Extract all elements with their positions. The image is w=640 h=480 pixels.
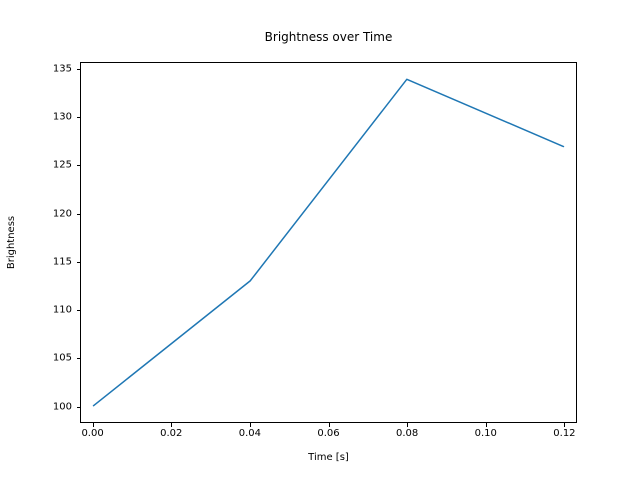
y-tick-mark: [77, 358, 81, 359]
plot-area: [80, 62, 577, 423]
x-tick-label: 0.00: [81, 428, 103, 439]
x-tick-mark: [486, 423, 487, 427]
x-tick-mark: [564, 423, 565, 427]
y-tick-mark: [77, 69, 81, 70]
y-tick-label: 110: [12, 305, 72, 316]
y-tick-label: 130: [12, 112, 72, 123]
x-tick-label: 0.12: [553, 428, 575, 439]
y-tick-label: 120: [12, 208, 72, 219]
y-tick-mark: [77, 214, 81, 215]
y-tick-mark: [77, 310, 81, 311]
y-tick-label: 115: [12, 256, 72, 267]
y-tick-label: 125: [12, 160, 72, 171]
y-tick-mark: [77, 407, 81, 408]
x-axis-label: Time [s]: [80, 452, 577, 463]
x-tick-mark: [329, 423, 330, 427]
x-tick-label: 0.02: [160, 428, 182, 439]
chart-title: Brightness over Time: [80, 30, 577, 44]
x-tick-mark: [250, 423, 251, 427]
x-tick-label: 0.10: [475, 428, 497, 439]
x-tick-mark: [93, 423, 94, 427]
chart-figure: Brightness over Time Brightness Time [s]…: [0, 0, 640, 480]
brightness-line-series: [94, 79, 564, 405]
y-tick-mark: [77, 117, 81, 118]
y-tick-mark: [77, 262, 81, 263]
x-tick-mark: [171, 423, 172, 427]
data-line-svg: [81, 63, 576, 422]
x-tick-mark: [407, 423, 408, 427]
x-tick-label: 0.08: [396, 428, 418, 439]
y-tick-label: 100: [12, 401, 72, 412]
y-tick-label: 135: [12, 63, 72, 74]
y-tick-mark: [77, 165, 81, 166]
x-tick-label: 0.04: [239, 428, 261, 439]
y-tick-label: 105: [12, 353, 72, 364]
x-tick-label: 0.06: [317, 428, 339, 439]
